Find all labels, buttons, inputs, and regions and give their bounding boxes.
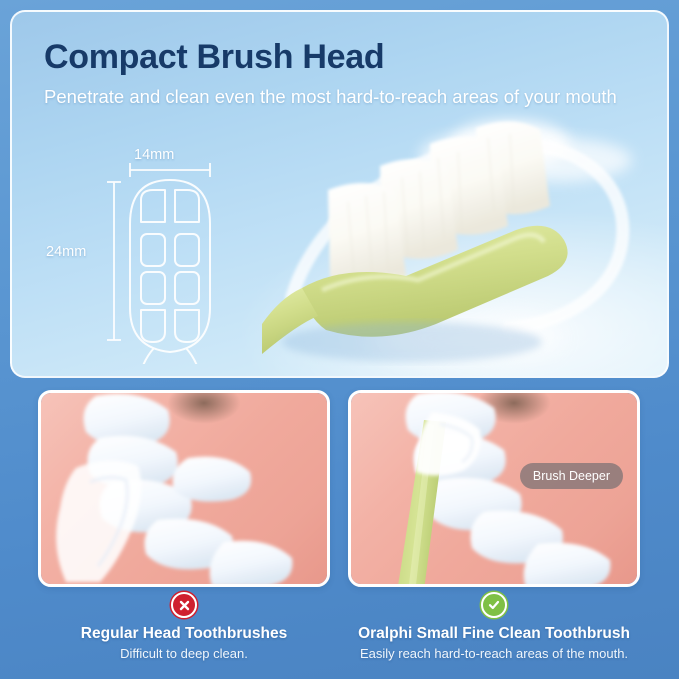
- caption-title: Regular Head Toothbrushes: [38, 624, 330, 643]
- caption-title: Oralphi Small Fine Clean Toothbrush: [348, 624, 640, 643]
- regular-brush-head: [56, 460, 141, 582]
- caption-subtitle: Easily reach hard-to-reach areas of the …: [348, 646, 640, 663]
- comparison-panel-oralphi: Brush Deeper: [348, 390, 640, 587]
- comparison-panel-regular: [38, 390, 330, 587]
- brush-head-dimension-diagram: 14mm 24mm: [42, 144, 232, 364]
- check-icon: [481, 592, 507, 618]
- product-feature-page: Compact Brush Head Penetrate and clean e…: [0, 0, 679, 679]
- toothbrush-head-photo: [262, 92, 662, 378]
- page-title: Compact Brush Head: [44, 38, 384, 77]
- brush-head-outline-icon: [130, 180, 210, 364]
- caption-subtitle: Difficult to deep clean.: [38, 646, 330, 663]
- hero-card: Compact Brush Head Penetrate and clean e…: [10, 10, 669, 378]
- cross-icon: [171, 592, 197, 618]
- product-shadow: [282, 322, 542, 362]
- brush-deeper-badge: Brush Deeper: [520, 463, 623, 489]
- caption-oralphi: Oralphi Small Fine Clean Toothbrush Easi…: [348, 592, 640, 663]
- regular-brush-photo: [38, 390, 330, 587]
- caption-regular: Regular Head Toothbrushes Difficult to d…: [38, 592, 330, 663]
